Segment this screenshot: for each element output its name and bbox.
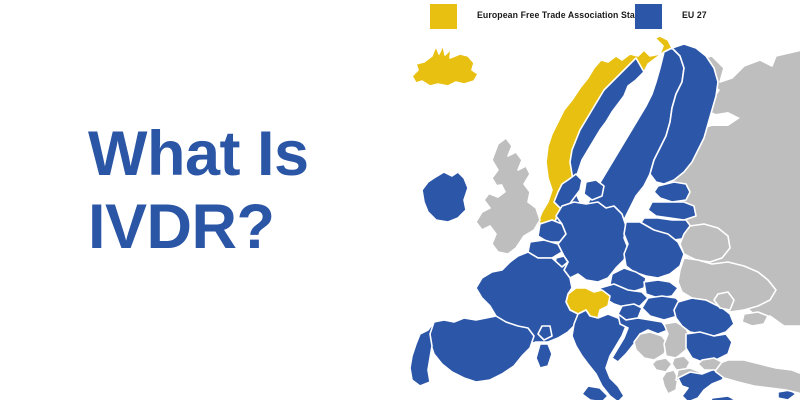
map-legend: European Free Trade Association States E… bbox=[0, 0, 800, 32]
map-region-crimea bbox=[742, 312, 768, 326]
map-region-ireland bbox=[422, 172, 468, 222]
europe-map-graphic bbox=[372, 26, 800, 400]
legend-item-eu: EU 27 bbox=[635, 3, 709, 29]
map-region-iceland bbox=[412, 45, 478, 86]
map-region-spain bbox=[428, 316, 534, 382]
slide-canvas: European Free Trade Association States E… bbox=[0, 0, 800, 400]
map-region-turkey bbox=[712, 360, 800, 394]
legend-label-eu: EU 27 bbox=[682, 11, 707, 21]
legend-swatch-eu-icon bbox=[635, 4, 662, 29]
legend-label-efta: European Free Trade Association States bbox=[477, 11, 648, 21]
map-region-crete bbox=[710, 396, 736, 400]
map-region-bulgaria bbox=[686, 332, 732, 362]
map-region-united-kingdom bbox=[476, 138, 540, 254]
page-title-line-1: What Is bbox=[88, 118, 388, 191]
map-region-slovakia bbox=[644, 280, 678, 298]
map-region-sardinia bbox=[536, 344, 552, 368]
map-region-bosnia bbox=[634, 332, 668, 360]
page-title-line-2: IVDR? bbox=[88, 191, 388, 264]
europe-map-container bbox=[372, 26, 800, 400]
legend-swatch-efta-icon bbox=[430, 4, 457, 29]
map-region-albania bbox=[662, 370, 678, 394]
map-region-portugal bbox=[410, 322, 434, 386]
map-region-germany bbox=[556, 202, 628, 282]
page-title: What Is IVDR? bbox=[88, 118, 388, 264]
legend-item-efta: European Free Trade Association States bbox=[430, 3, 663, 29]
map-region-estonia bbox=[654, 182, 690, 202]
map-region-montenegro bbox=[652, 358, 672, 372]
